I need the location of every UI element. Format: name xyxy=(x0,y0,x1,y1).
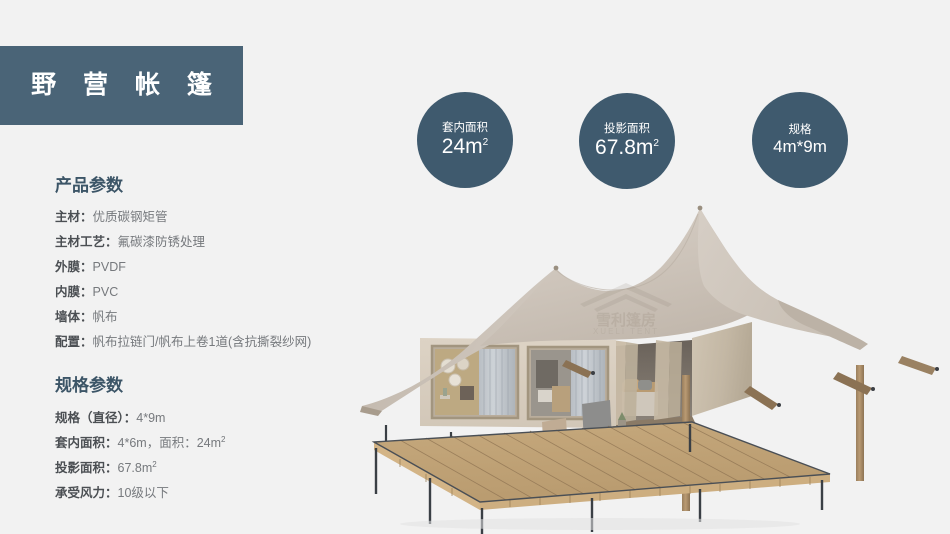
spec-label: 规格（直径）： xyxy=(55,411,136,425)
badge-exponent: 2 xyxy=(483,137,489,148)
product-spec-page: 野 营 帐 篷 产品参数 主材：优质碳钢矩管 主材工艺：氟碳漆防锈处理 外膜：P… xyxy=(0,0,950,534)
specification-column: 产品参数 主材：优质碳钢矩管 主材工艺：氟碳漆防锈处理 外膜：PVDF 内膜：P… xyxy=(55,176,385,506)
badge-number: 4m*9m xyxy=(773,137,827,156)
spec-label: 配置： xyxy=(55,335,93,349)
spec-row: 墙体：帆布 xyxy=(55,305,385,330)
spec-value: 67.8 xyxy=(118,461,142,475)
spec-value: 10级以下 xyxy=(118,486,169,500)
spec-label: 外膜： xyxy=(55,260,93,274)
spec-label: 墙体： xyxy=(55,310,93,324)
spec-value: 4*9m xyxy=(136,411,165,425)
spec-row: 主材：优质碳钢矩管 xyxy=(55,205,385,230)
badge-projected-area: 投影面积 67.8m2 xyxy=(579,93,675,189)
product-parameters-section: 产品参数 主材：优质碳钢矩管 主材工艺：氟碳漆防锈处理 外膜：PVDF 内膜：P… xyxy=(55,176,385,355)
spec-unit: m xyxy=(211,436,221,450)
tent-render-svg xyxy=(360,190,950,534)
spec-value: 优质碳钢矩管 xyxy=(93,210,168,224)
page-title-banner: 野 营 帐 篷 xyxy=(0,46,243,125)
spec-label: 套内面积： xyxy=(55,436,118,450)
badge-unit: m xyxy=(465,135,483,158)
badge-number: 67.8 xyxy=(595,136,636,159)
spec-value: 帆布 xyxy=(93,310,118,324)
spec-value: 氟碳漆防锈处理 xyxy=(118,235,206,249)
page-title: 野 营 帐 篷 xyxy=(21,73,222,98)
deck-platform xyxy=(374,422,830,510)
spec-value: 4*6m，面积：24 xyxy=(118,436,211,450)
spec-row: 配置：帆布拉链门/帆布上卷1道(含抗撕裂纱网) xyxy=(55,330,385,355)
spec-label: 主材工艺： xyxy=(55,235,118,249)
product-parameters-heading: 产品参数 xyxy=(55,176,385,196)
specification-parameters-section: 规格参数 规格（直径）：4*9m 套内面积：4*6m，面积：24m2 投影面积：… xyxy=(55,376,385,505)
spec-row: 主材工艺：氟碳漆防锈处理 xyxy=(55,230,385,255)
spec-row: 内膜：PVC xyxy=(55,280,385,305)
badge-label: 套内面积 xyxy=(442,122,488,135)
spec-value: 帆布拉链门/帆布上卷1道(含抗撕裂纱网) xyxy=(93,335,312,349)
spec-unit: m xyxy=(142,461,152,475)
spec-value: PVC xyxy=(93,285,119,299)
spec-row: 规格（直径）：4*9m xyxy=(55,406,385,431)
spec-exponent: 2 xyxy=(152,460,156,469)
badge-value: 4m*9m xyxy=(773,138,827,156)
spec-label: 投影面积： xyxy=(55,461,118,475)
badge-value: 24m2 xyxy=(442,136,488,158)
badge-value: 67.8m2 xyxy=(595,137,659,159)
spec-row: 外膜：PVDF xyxy=(55,255,385,280)
badge-unit: m xyxy=(636,136,654,159)
spec-exponent: 2 xyxy=(221,435,225,444)
badge-dimensions: 规格 4m*9m xyxy=(752,92,848,188)
badge-interior-area: 套内面积 24m2 xyxy=(417,92,513,188)
badge-number: 24 xyxy=(442,135,465,158)
specification-parameters-heading: 规格参数 xyxy=(55,376,385,396)
spec-row: 套内面积：4*6m，面积：24m2 xyxy=(55,431,385,456)
spec-row: 投影面积：67.8m2 xyxy=(55,456,385,481)
glamping-tent-illustration: 雪利篷房 XUELI TENT xyxy=(360,190,950,534)
spec-label: 主材： xyxy=(55,210,93,224)
spec-row: 承受风力：10级以下 xyxy=(55,481,385,506)
badge-label: 投影面积 xyxy=(604,123,650,136)
tent-window-left xyxy=(432,346,518,418)
tent-canvas-wall-right xyxy=(692,322,752,416)
badge-exponent: 2 xyxy=(653,138,659,149)
spec-label: 内膜： xyxy=(55,285,93,299)
spec-value: PVDF xyxy=(93,260,126,274)
spec-label: 承受风力： xyxy=(55,486,118,500)
badge-label: 规格 xyxy=(789,124,812,137)
